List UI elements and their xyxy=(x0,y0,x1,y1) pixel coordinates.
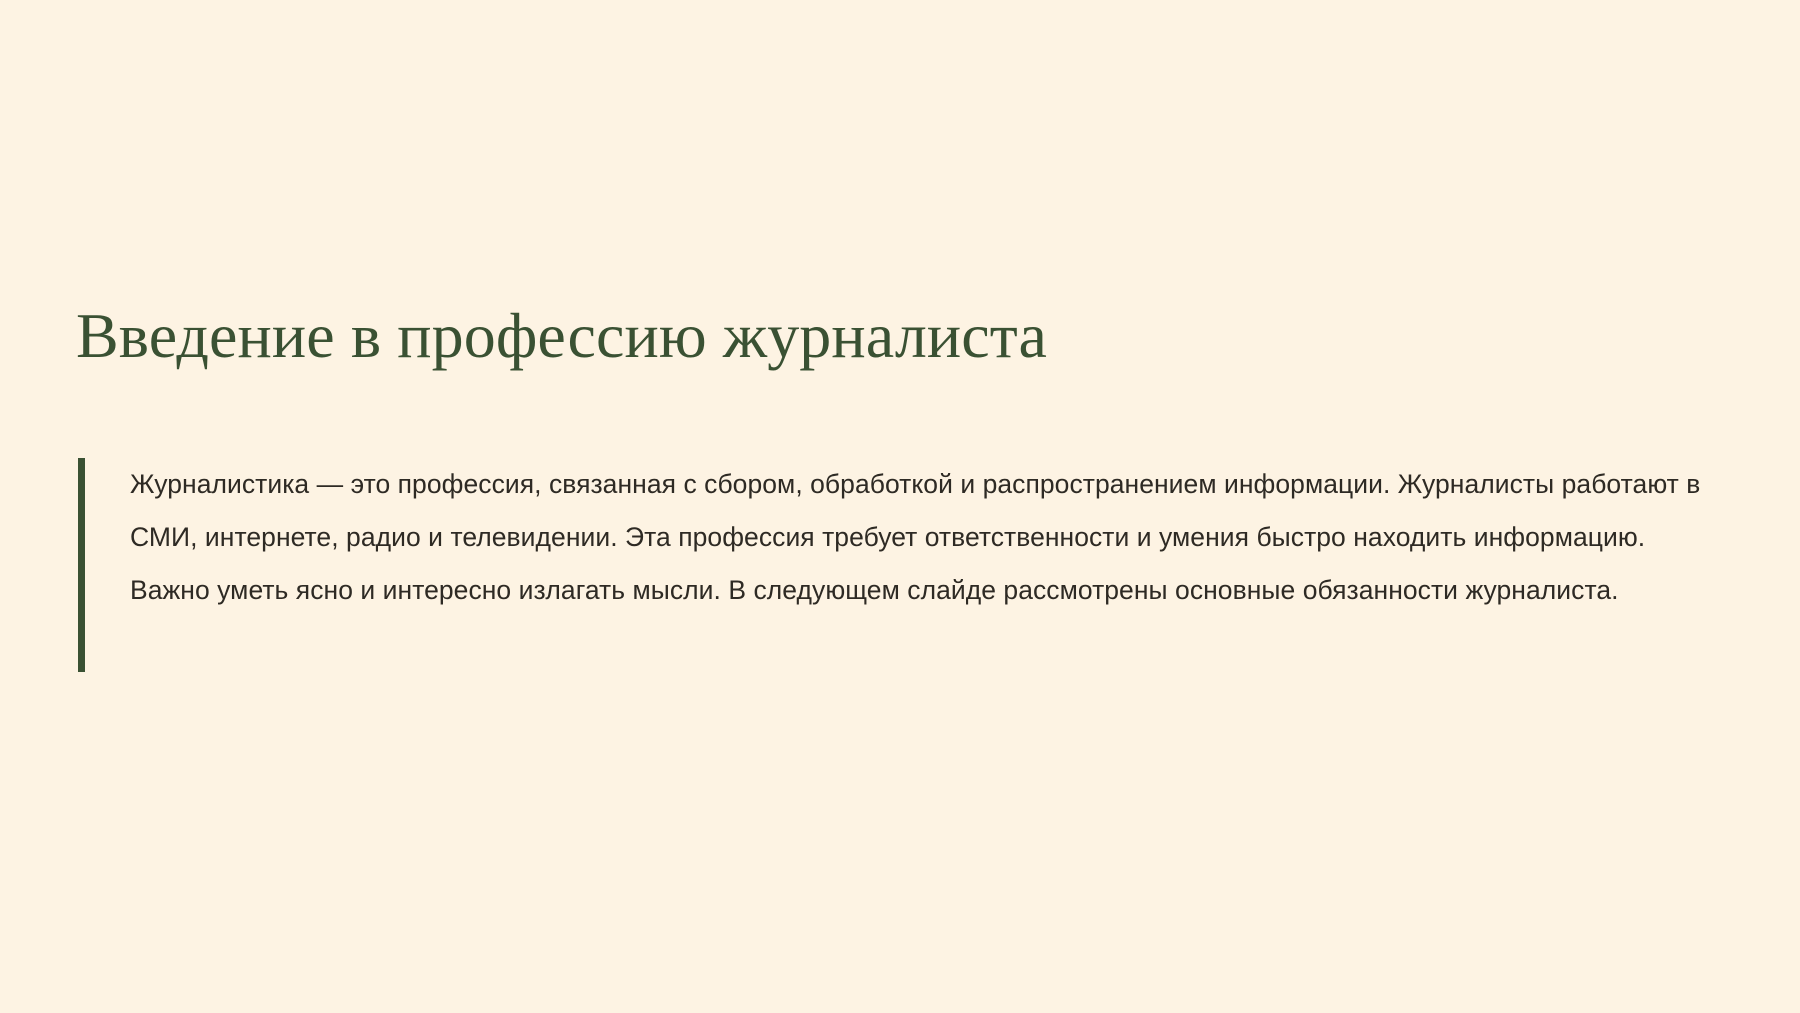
body-callout: Журналистика — это профессия, связанная … xyxy=(78,458,1726,672)
body-paragraph: Журналистика — это профессия, связанная … xyxy=(130,458,1724,617)
page-title: Введение в профессию журналиста xyxy=(76,298,1696,374)
body-text-container: Журналистика — это профессия, связанная … xyxy=(85,458,1726,672)
slide-canvas: Введение в профессию журналиста Журналис… xyxy=(0,0,1800,1013)
accent-bar xyxy=(78,458,85,672)
